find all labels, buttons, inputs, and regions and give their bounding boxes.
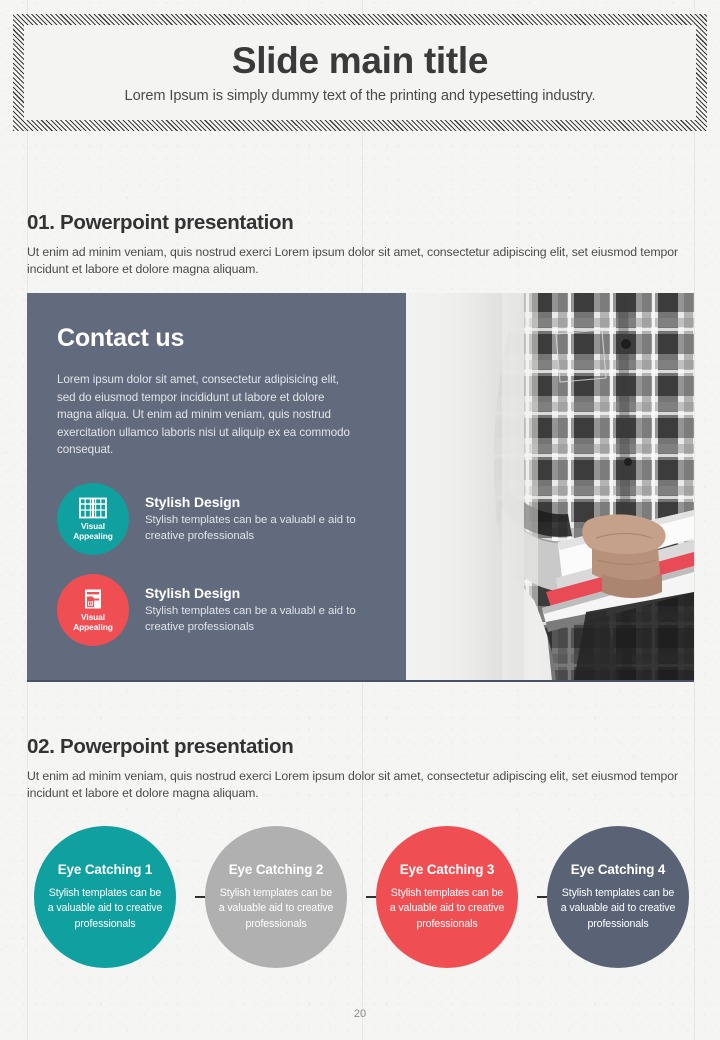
feature-desc: Stylish templates can be a valuabl e aid… (145, 604, 357, 636)
circle-desc: Stylish templates can be a valuable aid … (46, 886, 164, 932)
circle-title: Eye Catching 4 (571, 862, 666, 877)
feature-desc: Stylish templates can be a valuabl e aid… (145, 513, 357, 545)
circle-item-4[interactable]: Eye Catching 4 Stylish templates can be … (547, 826, 689, 968)
feature-badge-visual-appealing-1[interactable]: Visual Appealing (57, 483, 129, 555)
feature-badge-visual-appealing-2[interactable]: B Visual Appealing (57, 574, 129, 646)
header-inner: Slide main title Lorem Ipsum is simply d… (24, 25, 696, 120)
feature-row[interactable]: Visual Appealing Stylish Design Stylish … (57, 483, 378, 555)
circle-title: Eye Catching 2 (229, 862, 324, 877)
feature-title: Stylish Design (145, 494, 378, 510)
plaid-shirt-photo (406, 293, 694, 680)
circle-desc: Stylish templates can be a valuable aid … (388, 886, 506, 932)
contact-photo (406, 293, 694, 680)
contact-heading: Contact us (57, 324, 378, 353)
contact-block: Contact us Lorem ipsum dolor sit amet, c… (27, 293, 694, 682)
section-02-body: Ut enim ad minim veniam, quis nostrud ex… (27, 768, 693, 803)
circle-item-3[interactable]: Eye Catching 3 Stylish templates can be … (376, 826, 518, 968)
section-01: 01. Powerpoint presentation Ut enim ad m… (27, 211, 694, 279)
contact-panel: Contact us Lorem ipsum dolor sit amet, c… (27, 293, 406, 680)
feature-text: Stylish Design Stylish templates can be … (145, 494, 378, 545)
slide-page: Slide main title Lorem Ipsum is simply d… (0, 0, 720, 1040)
feature-row[interactable]: B Visual Appealing Stylish Design Stylis… (57, 574, 378, 646)
circle-row: Eye Catching 1 Stylish templates can be … (27, 826, 694, 968)
circle-title: Eye Catching 3 (400, 862, 495, 877)
feature-title: Stylish Design (145, 585, 378, 601)
circle-desc: Stylish templates can be a valuable aid … (559, 886, 677, 932)
page-number: 20 (0, 1008, 720, 1020)
header-frame: Slide main title Lorem Ipsum is simply d… (13, 14, 707, 131)
page-title: Slide main title (232, 42, 488, 79)
feature-list: Visual Appealing Stylish Design Stylish … (57, 483, 378, 646)
circle-item-2[interactable]: Eye Catching 2 Stylish templates can be … (205, 826, 347, 968)
section-01-body: Ut enim ad minim veniam, quis nostrud ex… (27, 244, 693, 279)
feature-badge-caption: Visual Appealing (73, 522, 113, 541)
svg-text:B: B (89, 602, 93, 608)
circle-item-1[interactable]: Eye Catching 1 Stylish templates can be … (34, 826, 176, 968)
feature-text: Stylish Design Stylish templates can be … (145, 585, 378, 636)
grid-table-icon (79, 497, 107, 519)
section-01-title: 01. Powerpoint presentation (27, 211, 694, 235)
contact-paragraph: Lorem ipsum dolor sit amet, consectetur … (57, 371, 357, 459)
circle-title: Eye Catching 1 (58, 862, 153, 877)
circle-desc: Stylish templates can be a valuable aid … (217, 886, 335, 932)
section-02: 02. Powerpoint presentation Ut enim ad m… (27, 735, 694, 803)
feature-badge-caption: Visual Appealing (73, 613, 113, 632)
section-02-title: 02. Powerpoint presentation (27, 735, 694, 759)
document-b-icon: B (79, 588, 107, 610)
page-subtitle: Lorem Ipsum is simply dummy text of the … (125, 88, 596, 104)
